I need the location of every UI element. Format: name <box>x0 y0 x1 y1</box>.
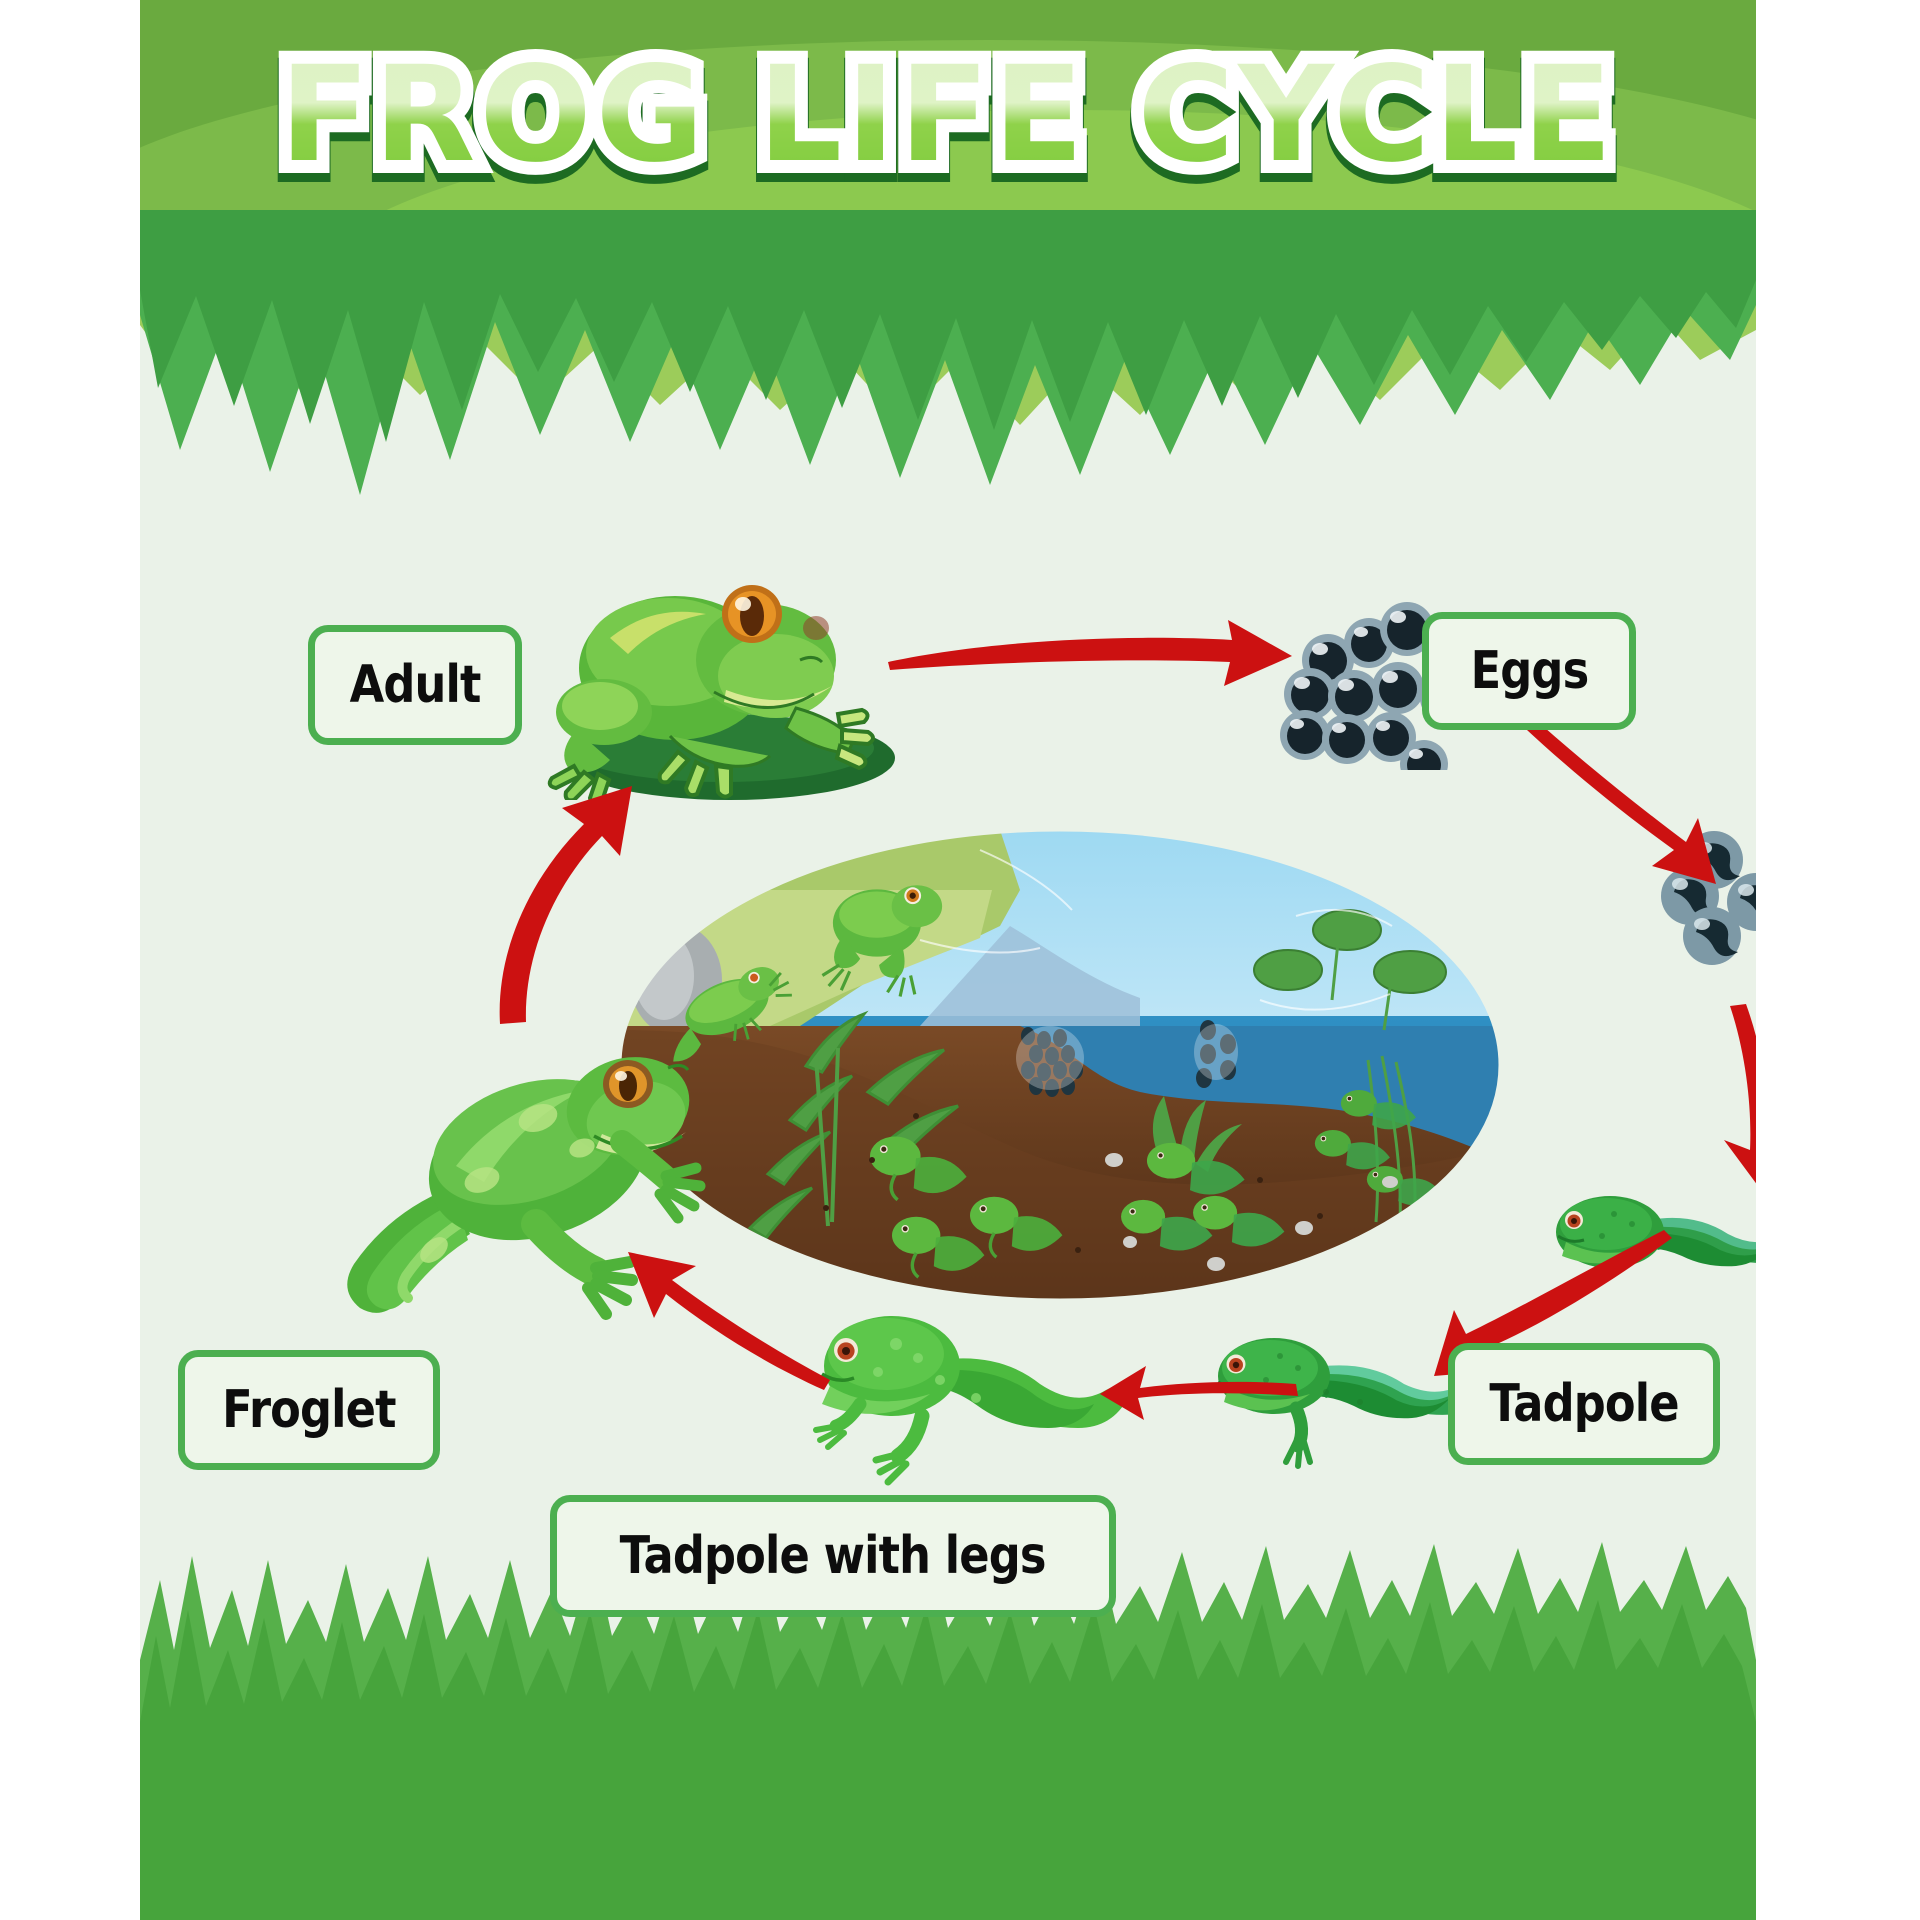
label-froglet-text: Froglet <box>222 1380 396 1440</box>
label-adult[interactable]: Adult <box>308 625 522 745</box>
tadpole-with-four-legs <box>800 1300 1130 1490</box>
label-adult-text: Adult <box>350 655 481 715</box>
arrow-froglet-to-adult <box>470 770 660 1030</box>
pond-habitat-illustration <box>620 830 1500 1300</box>
arrow-four-legs-to-froglet <box>610 1240 830 1400</box>
label-tadpole-with-legs-text: Tadpole with legs <box>620 1526 1046 1586</box>
label-eggs-text: Eggs <box>1470 641 1588 701</box>
foliage-border <box>140 210 1756 510</box>
label-tadpole-text: Tadpole <box>1489 1374 1678 1434</box>
arrow-adult-to-eggs <box>880 600 1300 740</box>
page-title: FROG LIFE CYCLE <box>140 38 1756 192</box>
arrow-embryo-to-tadpole <box>1710 1000 1756 1190</box>
poster-canvas: FROG LIFE CYCLE FROG LIFE CYCLE FROG LIF… <box>140 0 1756 1920</box>
adult-frog-on-lily-pad <box>500 540 920 800</box>
label-tadpole-with-legs[interactable]: Tadpole with legs <box>550 1495 1116 1617</box>
arrow-tadpole-legs-to-four-legs <box>1100 1340 1300 1440</box>
label-froglet[interactable]: Froglet <box>178 1350 440 1470</box>
label-tadpole[interactable]: Tadpole <box>1448 1343 1720 1465</box>
label-eggs[interactable]: Eggs <box>1422 612 1636 730</box>
